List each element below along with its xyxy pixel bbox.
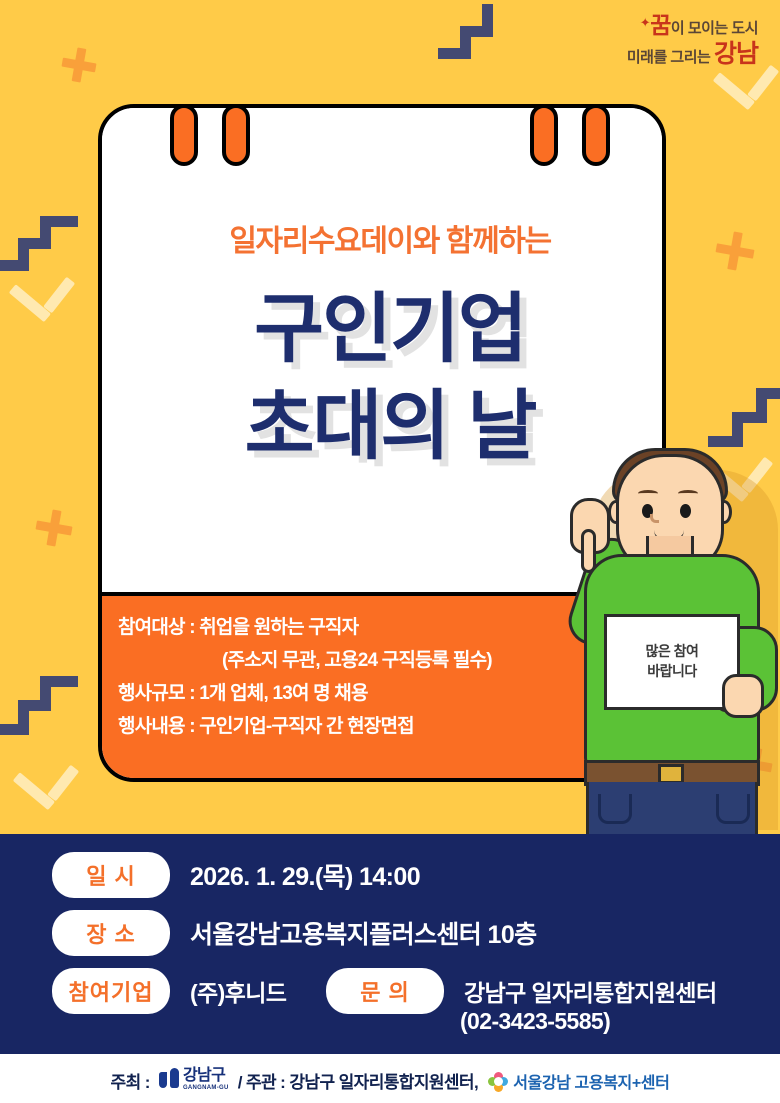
detail-value-company: (주)후니드	[190, 974, 286, 1008]
info-row-target: 참여대상 : 취업을 원하는 구직자	[118, 618, 588, 637]
gangnam-gu-logo: 강남구GANGNAM-GU	[159, 1065, 229, 1091]
character-pointing-hand	[570, 498, 610, 554]
character-pocket-left	[598, 794, 632, 824]
binder-clip-icon	[222, 104, 250, 176]
sign-line-1: 많은 참여	[646, 643, 699, 659]
footer-text: 주최 : 강남구GANGNAM-GU / 주관 : 강남구 일자리통합지원센터,…	[111, 1065, 670, 1093]
info-row-note: (주소지 무관, 고용24 구직등록 필수)	[118, 651, 588, 670]
binder-clip-icon	[170, 104, 198, 176]
detail-value-datetime: 2026. 1. 29.(목) 14:00	[190, 857, 420, 893]
event-details-band: 일 시 2026. 1. 29.(목) 14:00 장 소 서울강남고용복지플러…	[0, 834, 780, 1054]
info-block: 참여대상 : 취업을 원하는 구직자 (주소지 무관, 고용24 구직등록 필수…	[118, 618, 588, 750]
character-illustration: 많은 참여 바랍니다	[576, 438, 780, 838]
footer-organizer-label: 주관 : 강남구 일자리통합지원센터,	[246, 1073, 482, 1092]
sign-text: 많은 참여 바랍니다	[607, 641, 737, 682]
detail-value-inquiry: 강남구 일자리통합지원센터	[464, 974, 717, 1008]
character-brow-left	[638, 490, 658, 497]
chevron-decoration-icon	[42, 760, 88, 808]
star-icon: ✦	[640, 15, 650, 30]
footer-host-label: 주최 :	[111, 1073, 154, 1092]
character-brow-right	[678, 490, 698, 497]
gangnam-logo-text: 강남구GANGNAM-GU	[183, 1065, 229, 1091]
welfare-center-name: 서울강남 고용복지+센터	[513, 1075, 669, 1092]
character-eye-right	[680, 504, 691, 518]
detail-row-datetime: 일 시 2026. 1. 29.(목) 14:00	[52, 852, 420, 898]
character-nose	[650, 514, 659, 523]
brand-slogan-line2: 미래를 그리는 강남	[568, 42, 758, 67]
brand-slogan-line1: ✦꿈이 모이는 도시	[568, 14, 758, 37]
detail-label-company: 참여기업	[52, 968, 170, 1014]
poster-root: ✦꿈이 모이는 도시 미래를 그리는 강남 일자리수요데이와 함께하는 구인기업…	[0, 0, 780, 1103]
footer-bar: 주최 : 강남구GANGNAM-GU / 주관 : 강남구 일자리통합지원센터,…	[0, 1054, 780, 1103]
info-row-scale: 행사규모 : 1개 업체, 13여 명 채용	[118, 684, 588, 703]
character-sign-board: 많은 참여 바랍니다	[604, 614, 740, 710]
detail-label-location: 장 소	[52, 910, 170, 956]
character-belt-buckle	[658, 764, 684, 784]
footer-divider: /	[234, 1073, 246, 1092]
character-pocket-right	[716, 794, 750, 824]
title-line-1: 구인기업	[0, 282, 780, 379]
detail-label-inquiry: 문 의	[326, 968, 444, 1014]
detail-value-phone: (02-3423-5585)	[460, 1008, 610, 1035]
stair-decoration-icon	[438, 4, 520, 62]
plus-decoration-icon	[36, 510, 72, 546]
gangnam-brand-logo: ✦꿈이 모이는 도시 미래를 그리는 강남	[568, 14, 758, 70]
info-row-content: 행사내용 : 구인기업-구직자 간 현장면접	[118, 717, 588, 736]
detail-row-company: 참여기업 (주)후니드	[52, 968, 286, 1014]
detail-row-location: 장 소 서울강남고용복지플러스센터 10층	[52, 910, 537, 956]
detail-value-location: 서울강남고용복지플러스센터 10층	[190, 915, 537, 951]
gangnam-mark-icon	[159, 1068, 181, 1088]
plus-decoration-icon	[62, 48, 96, 82]
binder-clip-icon	[582, 104, 610, 176]
stair-decoration-icon	[0, 676, 78, 748]
detail-label-datetime: 일 시	[52, 852, 170, 898]
poster-subtitle: 일자리수요데이와 함께하는	[0, 216, 780, 260]
welfare-center-flower-icon	[488, 1072, 508, 1092]
character-hand-right	[722, 674, 764, 718]
sign-line-2: 바랍니다	[647, 663, 697, 679]
binder-clip-icon	[530, 104, 558, 176]
